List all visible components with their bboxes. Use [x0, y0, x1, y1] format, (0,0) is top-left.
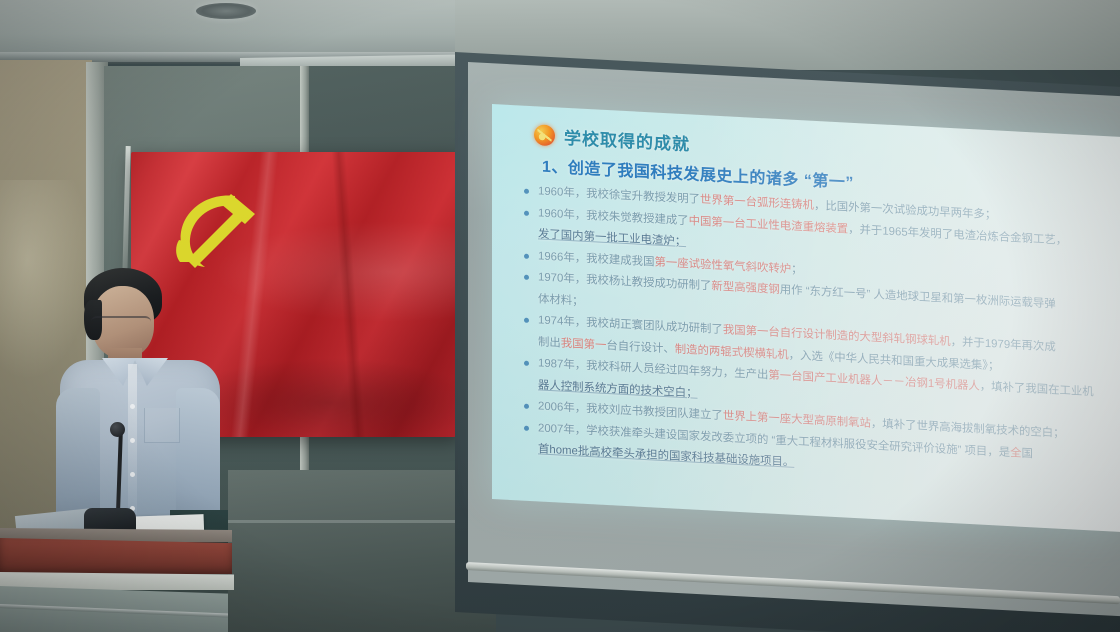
slide-bullet-list: 1960年，我校徐宝升教授发明了世界第一台弧形连铸机，比国外第一次试验成功早两年…: [506, 182, 1120, 490]
glasses-icon: [91, 316, 151, 330]
bullet-text-run: 中国第一台工业性电渣: [689, 215, 803, 233]
projected-slide: 学校取得的成就 1、创造了我国科技发展史上的诸多 “第一” 1960年，我校徐宝…: [492, 104, 1120, 532]
bullet-text-run: 制出: [538, 336, 561, 349]
bullet-text-run: 世界第一台弧形连铸机: [700, 194, 814, 212]
ceiling-light-icon: [196, 3, 256, 19]
bullet-text-run: ，并于1979年再次成: [951, 336, 1056, 354]
bullet-text-run: 发了国内第一批工业电渣炉；: [538, 228, 686, 248]
shirt-button: [130, 438, 135, 443]
microphone-head: [110, 422, 125, 437]
podium-front-panel: [0, 538, 232, 574]
bullet-text-run: 1966年，我校建成我国: [538, 250, 654, 268]
bullet-text-run: ，填补了我国在工业机: [980, 381, 1094, 399]
bullet-text-run: 器人控制系统方面的技术空白；: [538, 379, 697, 399]
cpc-emblem-icon: [534, 124, 555, 146]
shirt-button: [130, 472, 135, 477]
slide-title: 学校取得的成就: [564, 124, 690, 156]
bullet-text-run: 第一座试验性氧气斜吹转炉: [654, 256, 791, 275]
bullet-text-run: 1970年，我校杨让教授成功研制了: [538, 271, 711, 292]
bullet-text-run: 新型高强度钢: [711, 280, 779, 296]
bullet-text-run: ，入选《中华人民共和国重大成果选集》；: [789, 349, 1000, 372]
bullet-text-run: 全: [1010, 447, 1021, 460]
bullet-text-run: 1974年，我校胡正寰团队成功研制了: [538, 314, 723, 336]
bullet-text-run: ；: [791, 263, 802, 276]
bullet-text-run: 国: [1022, 447, 1033, 460]
bullet-text-run: 1960年，我校徐宝升教授发明了: [538, 185, 700, 205]
bullet-text-run: 世界上第一座大型高原制氧站: [723, 410, 871, 430]
shirt-pocket: [144, 408, 180, 443]
bullet-text-run: 制造的两辊式楔横轧机: [675, 343, 789, 361]
shirt-button: [130, 404, 135, 409]
bullet-text-run: 重熔装置: [803, 221, 849, 235]
bullet-text-run: 2006年，我校刘应书教授团队建立了: [538, 400, 723, 422]
bullet-text-run: ，比国外第一次试验成功早两年多；: [814, 200, 996, 222]
bullet-text-run: 台自行设计、: [606, 339, 674, 355]
lecture-hall-scene: 学校取得的成就 1、创造了我国科技发展史上的诸多 “第一” 1960年，我校徐宝…: [0, 0, 1120, 632]
bullet-text-run: 体材料；: [538, 293, 584, 307]
bullet-text-run: 1960年，我校朱觉教授建成了: [538, 207, 689, 227]
bullet-text-run: 我国第一: [561, 337, 607, 351]
bullet-text-run: ，填补了世界高海拔制氧技术的空白；: [871, 418, 1065, 440]
wooden-podium: [0, 528, 250, 632]
